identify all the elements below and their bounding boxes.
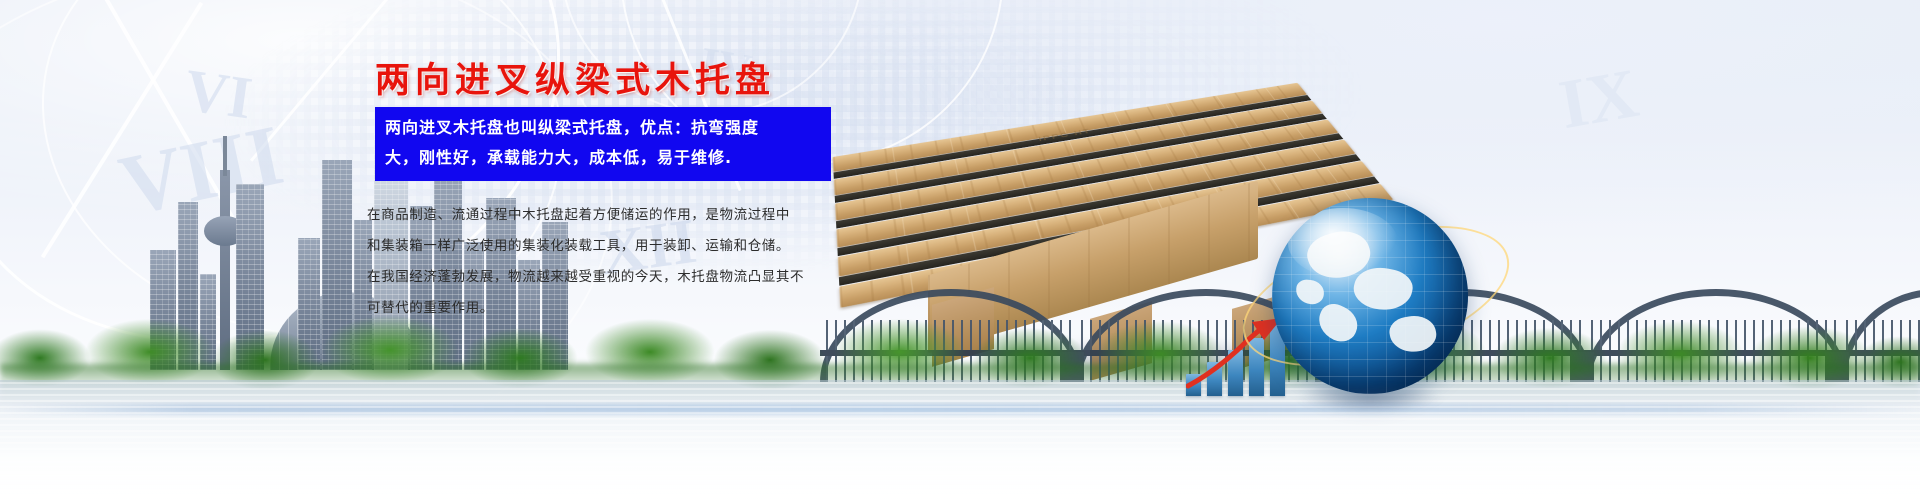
highlight-callout-box: 两向进叉木托盘也叫纵梁式托盘，优点：抗弯强度 大，刚性好，承载能力大，成本低，易… xyxy=(375,107,831,181)
water-reflection xyxy=(0,380,1920,500)
description-line: 和集装箱一样广泛使用的集装化装载工具，用于装卸、运输和仓储。 xyxy=(367,231,837,262)
description-line: 可替代的重要作用。 xyxy=(367,293,837,324)
product-banner: VIII VI XII IV IX xyxy=(0,0,1920,500)
banner-title: 两向进叉纵梁式木托盘 xyxy=(375,52,775,103)
globe-graphic xyxy=(1272,198,1468,394)
description-line: 在我国经济蓬勃发展，物流越来越受重视的今天，木托盘物流凸显其不 xyxy=(367,262,837,293)
highlight-line-2: 大，刚性好，承载能力大，成本低，易于维修. xyxy=(385,143,821,173)
description-paragraphs: 在商品制造、流通过程中木托盘起着方便储运的作用，是物流过程中 和集装箱一样广泛使… xyxy=(367,200,837,324)
description-line: 在商品制造、流通过程中木托盘起着方便储运的作用，是物流过程中 xyxy=(367,200,837,231)
globe-shadow xyxy=(1272,378,1468,418)
roman-numeral-watermark: IX xyxy=(1554,54,1645,146)
globe-highlight xyxy=(1288,208,1398,278)
highlight-line-1: 两向进叉木托盘也叫纵梁式托盘，优点：抗弯强度 xyxy=(385,113,821,143)
